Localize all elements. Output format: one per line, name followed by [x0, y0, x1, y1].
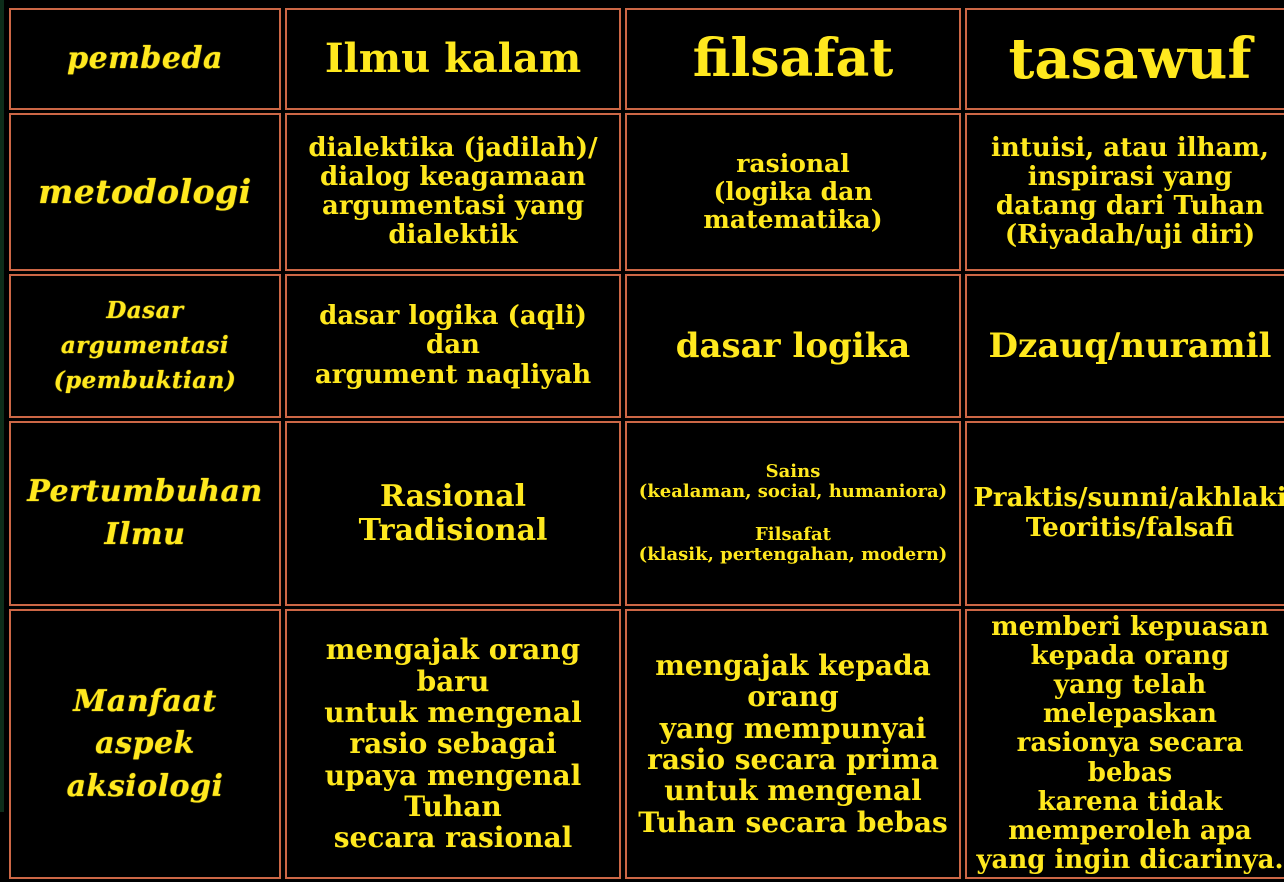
header-cell-filsafat: filsafat — [625, 8, 961, 110]
header-label-ilmu-kalam: Ilmu kalam — [325, 35, 581, 82]
cell-text: Praktis/sunni/akhlaki Teoritis/falsafi — [973, 484, 1284, 542]
cell-dasar-filsafat: dasar logika — [625, 274, 961, 418]
cell-text: dasar logika (aqli) dan argument naqliya… — [293, 302, 613, 389]
cell-text: Sains (kealaman, social, humaniora) Fils… — [633, 462, 953, 565]
cell-manfaat-filsafat: mengajak kepada orang yang mempunyai ras… — [625, 609, 961, 879]
cell-text: dasar logika — [633, 327, 953, 365]
row-label-pertumbuhan-ilmu: Pertumbuhan Ilmu — [9, 421, 281, 606]
cell-text: mengajak orang baru untuk mengenal rasio… — [293, 634, 613, 854]
row-label-text: Manfaat aspek aksiologi — [17, 685, 273, 804]
cell-text: Rasional Tradisional — [293, 480, 613, 547]
table-row: Dasar argumentasi (pembuktian) dasar log… — [9, 274, 1284, 418]
table-row: Pertumbuhan Ilmu Rasional Tradisional Sa… — [9, 421, 1284, 606]
paragraph-spacer — [633, 503, 953, 525]
slide-page: pembeda Ilmu kalam filsafat tasawuf meto… — [0, 0, 1284, 812]
cell-dasar-tasawuf: Dzauq/nuramil — [965, 274, 1284, 418]
table-header-row: pembeda Ilmu kalam filsafat tasawuf — [9, 8, 1284, 110]
cell-manfaat-tasawuf: memberi kepuasan kepada orang yang telah… — [965, 609, 1284, 879]
header-cell-pembeda: pembeda — [9, 8, 281, 110]
cell-text: mengajak kepada orang yang mempunyai ras… — [633, 650, 953, 838]
cell-text: intuisi, atau ilham, inspirasi yang data… — [973, 134, 1284, 250]
cell-manfaat-ilmu-kalam: mengajak orang baru untuk mengenal rasio… — [285, 609, 621, 879]
row-label-dasar-argumentasi: Dasar argumentasi (pembuktian) — [9, 274, 281, 418]
row-label-metodologi: metodologi — [9, 113, 281, 271]
row-label-manfaat-aksiologi: Manfaat aspek aksiologi — [9, 609, 281, 879]
row-label-text: Pertumbuhan Ilmu — [17, 475, 273, 551]
header-label-filsafat: filsafat — [693, 28, 894, 89]
table-row: Manfaat aspek aksiologi mengajak orang b… — [9, 609, 1284, 879]
header-label-tasawuf: tasawuf — [1009, 26, 1252, 92]
header-cell-ilmu-kalam: Ilmu kalam — [285, 8, 621, 110]
cell-text: dialektika (jadilah)/ dialog keagamaan a… — [293, 134, 613, 250]
cell-dasar-ilmu-kalam: dasar logika (aqli) dan argument naqliya… — [285, 274, 621, 418]
header-label-pembeda: pembeda — [67, 41, 223, 76]
row-label-text: metodologi — [17, 174, 273, 211]
cell-text: memberi kepuasan kepada orang yang telah… — [973, 613, 1284, 875]
cell-pertumbuhan-tasawuf: Praktis/sunni/akhlaki Teoritis/falsafi — [965, 421, 1284, 606]
row-label-text: Dasar argumentasi (pembuktian) — [17, 298, 273, 393]
table-row: metodologi dialektika (jadilah)/ dialog … — [9, 113, 1284, 271]
comparison-table: pembeda Ilmu kalam filsafat tasawuf meto… — [5, 5, 1284, 882]
cell-metodologi-filsafat: rasional (logika dan matematika) — [625, 113, 961, 271]
left-edge-strip — [0, 0, 4, 812]
cell-pertumbuhan-ilmu-kalam: Rasional Tradisional — [285, 421, 621, 606]
header-cell-tasawuf: tasawuf — [965, 8, 1284, 110]
cell-metodologi-tasawuf: intuisi, atau ilham, inspirasi yang data… — [965, 113, 1284, 271]
cell-text: Dzauq/nuramil — [973, 327, 1284, 365]
cell-text: rasional (logika dan matematika) — [633, 150, 953, 234]
cell-pertumbuhan-filsafat: Sains (kealaman, social, humaniora) Fils… — [625, 421, 961, 606]
cell-metodologi-ilmu-kalam: dialektika (jadilah)/ dialog keagamaan a… — [285, 113, 621, 271]
